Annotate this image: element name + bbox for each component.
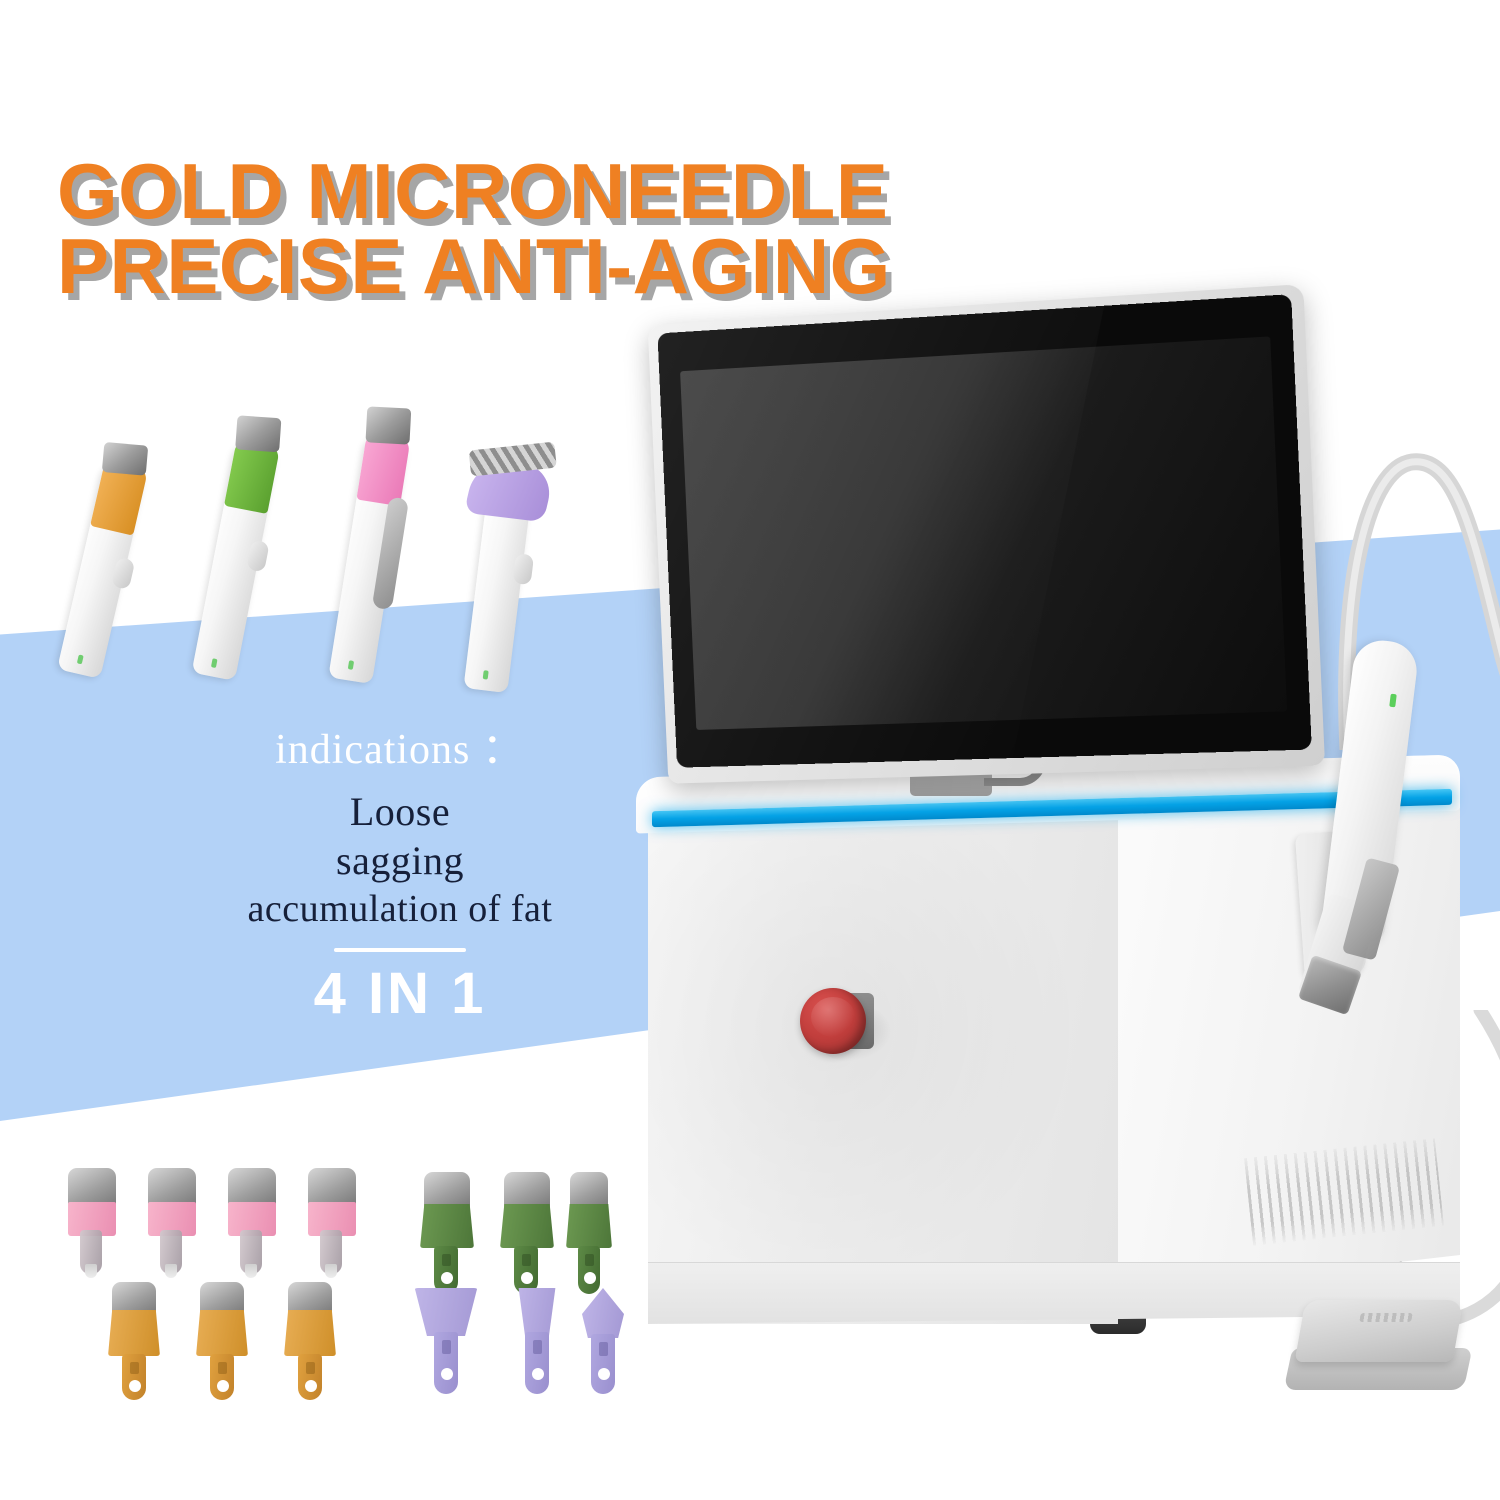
cartridge-slot xyxy=(533,1340,542,1354)
foot-pedal[interactable] xyxy=(1295,1300,1464,1362)
cartridge-amber[interactable] xyxy=(108,1282,166,1398)
cartridge-slot xyxy=(218,1362,227,1374)
handpiece-button[interactable] xyxy=(513,553,535,585)
handpiece-head xyxy=(235,415,281,452)
cartridge-pink[interactable] xyxy=(308,1168,360,1276)
cartridge-collar xyxy=(500,1204,554,1248)
indication-item-1: Loose xyxy=(185,788,615,837)
cartridge-green[interactable] xyxy=(420,1172,478,1294)
divider xyxy=(334,948,466,952)
four-in-one-badge: 4 IN 1 xyxy=(185,960,615,1027)
cartridge-hole xyxy=(521,1272,533,1284)
handpiece-head xyxy=(365,406,411,444)
cartridge-hole xyxy=(441,1272,453,1284)
indication-item-3: accumulation of fat xyxy=(185,886,615,932)
indication-item-2: sagging xyxy=(185,837,615,886)
cartridge-slot xyxy=(306,1362,315,1374)
cartridge-purple[interactable] xyxy=(412,1288,484,1400)
chassis-front-shading xyxy=(648,812,1118,1324)
cartridge-needle-tip xyxy=(165,1264,177,1278)
cartridge-green[interactable] xyxy=(500,1172,558,1294)
cartridge-collar xyxy=(566,1204,612,1248)
cartridge-pink[interactable] xyxy=(68,1168,120,1276)
cartridge-hole xyxy=(532,1368,544,1380)
cartridge-hole xyxy=(305,1380,317,1392)
foot-pedal-ridge xyxy=(1359,1313,1413,1322)
cartridge-slot xyxy=(130,1362,139,1374)
indications-block: indications ： Loose sagging accumulation… xyxy=(185,715,615,1027)
cartridge-needle-tip xyxy=(85,1264,97,1278)
cartridge-hole xyxy=(584,1272,596,1284)
emergency-stop-button[interactable] xyxy=(800,988,866,1054)
cartridge-purple[interactable] xyxy=(508,1288,568,1400)
product-banner: GOLD MICRONEEDLE PRECISE ANTI-AGING indi… xyxy=(0,0,1500,1500)
cartridge-collar xyxy=(284,1310,336,1356)
cartridge-needle-tip xyxy=(325,1264,337,1278)
cartridge-head-narrow xyxy=(514,1288,560,1336)
cartridge-hole xyxy=(217,1380,229,1392)
cartridge-slot xyxy=(442,1340,451,1354)
cartridge-slot xyxy=(522,1254,531,1266)
cartridge-pink[interactable] xyxy=(228,1168,280,1276)
cartridge-hole xyxy=(129,1380,141,1392)
cartridge-head-wide xyxy=(412,1288,480,1336)
cartridge-amber[interactable] xyxy=(284,1282,342,1398)
cartridge-needle-tip xyxy=(245,1264,257,1278)
cartridge-collar xyxy=(420,1204,474,1248)
cartridge-collar xyxy=(196,1310,248,1356)
page-title: GOLD MICRONEEDLE PRECISE ANTI-AGING xyxy=(57,78,891,381)
cartridge-amber[interactable] xyxy=(196,1282,254,1398)
cartridge-purple[interactable] xyxy=(576,1288,632,1400)
cartridge-hole xyxy=(441,1368,453,1380)
cartridge-hole xyxy=(598,1368,610,1380)
cartridge-collar xyxy=(108,1310,160,1356)
cartridge-stem xyxy=(298,1354,322,1400)
cartridge-pink[interactable] xyxy=(148,1168,200,1276)
cartridge-slot xyxy=(585,1254,594,1266)
cartridge-slot xyxy=(442,1254,451,1266)
handpiece-head xyxy=(102,442,148,476)
cartridge-slot xyxy=(599,1342,608,1356)
cartridge-head-dome xyxy=(582,1288,624,1338)
cartridge-stem xyxy=(210,1354,234,1400)
cartridge-green[interactable] xyxy=(566,1172,616,1294)
cartridge-stem xyxy=(122,1354,146,1400)
indications-label: indications ： xyxy=(185,715,615,776)
headline-line-2: PRECISE ANTI-AGING xyxy=(57,229,891,305)
